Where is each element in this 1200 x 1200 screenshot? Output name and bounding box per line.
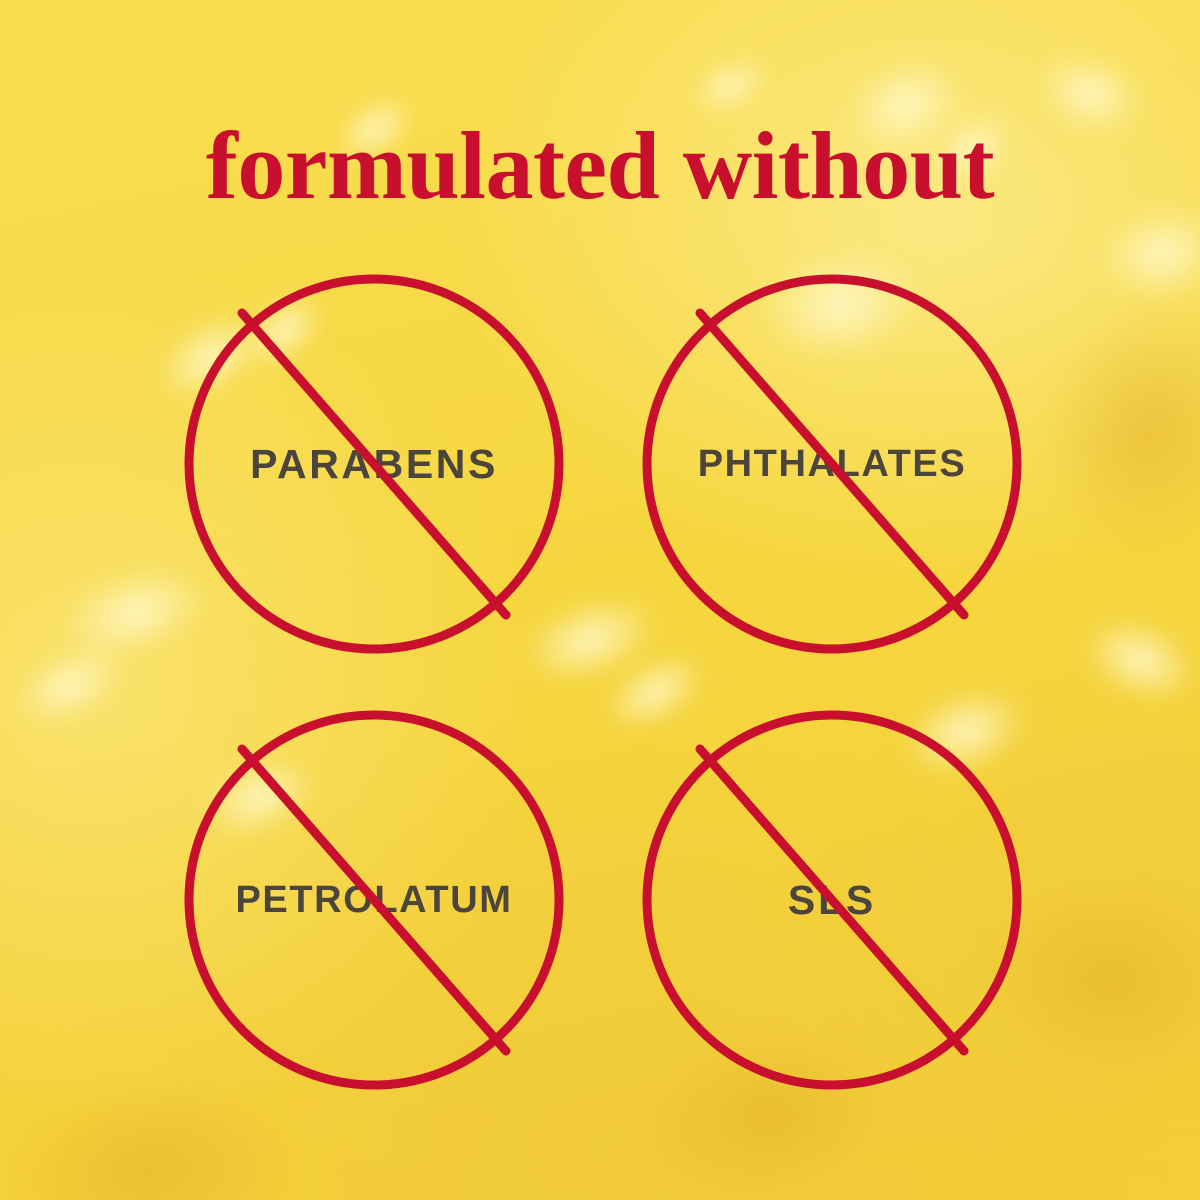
no-symbol-slash-svg — [640, 272, 1024, 656]
symbol-cell-phthalates: PHTHALATES — [640, 272, 1024, 656]
no-symbol-icon: SLS — [640, 708, 1024, 1092]
symbol-cell-parabens: PARABENS — [182, 272, 566, 656]
no-symbol-grid: PARABENS PHTHALATES — [150, 272, 1050, 1092]
no-symbol-icon: PHTHALATES — [640, 272, 1024, 656]
no-symbol-icon: PETROLATUM — [182, 708, 566, 1092]
no-symbol-slash-svg — [640, 708, 1024, 1092]
no-symbol-icon: PARABENS — [182, 272, 566, 656]
slash-line — [242, 749, 506, 1051]
no-symbol-slash-svg — [182, 708, 566, 1092]
bokeh-blob — [1069, 600, 1200, 719]
page-title: formulated without — [0, 118, 1200, 214]
symbol-cell-sls: SLS — [640, 708, 1024, 1092]
slash-line — [242, 313, 506, 615]
bokeh-blob — [1, 626, 140, 744]
formulated-without-graphic: formulated without PARABENS PHTHALATES — [0, 0, 1200, 1200]
no-symbol-slash-svg — [182, 272, 566, 656]
symbol-cell-petrolatum: PETROLATUM — [182, 708, 566, 1092]
slash-line — [700, 749, 964, 1051]
slash-line — [700, 313, 964, 615]
